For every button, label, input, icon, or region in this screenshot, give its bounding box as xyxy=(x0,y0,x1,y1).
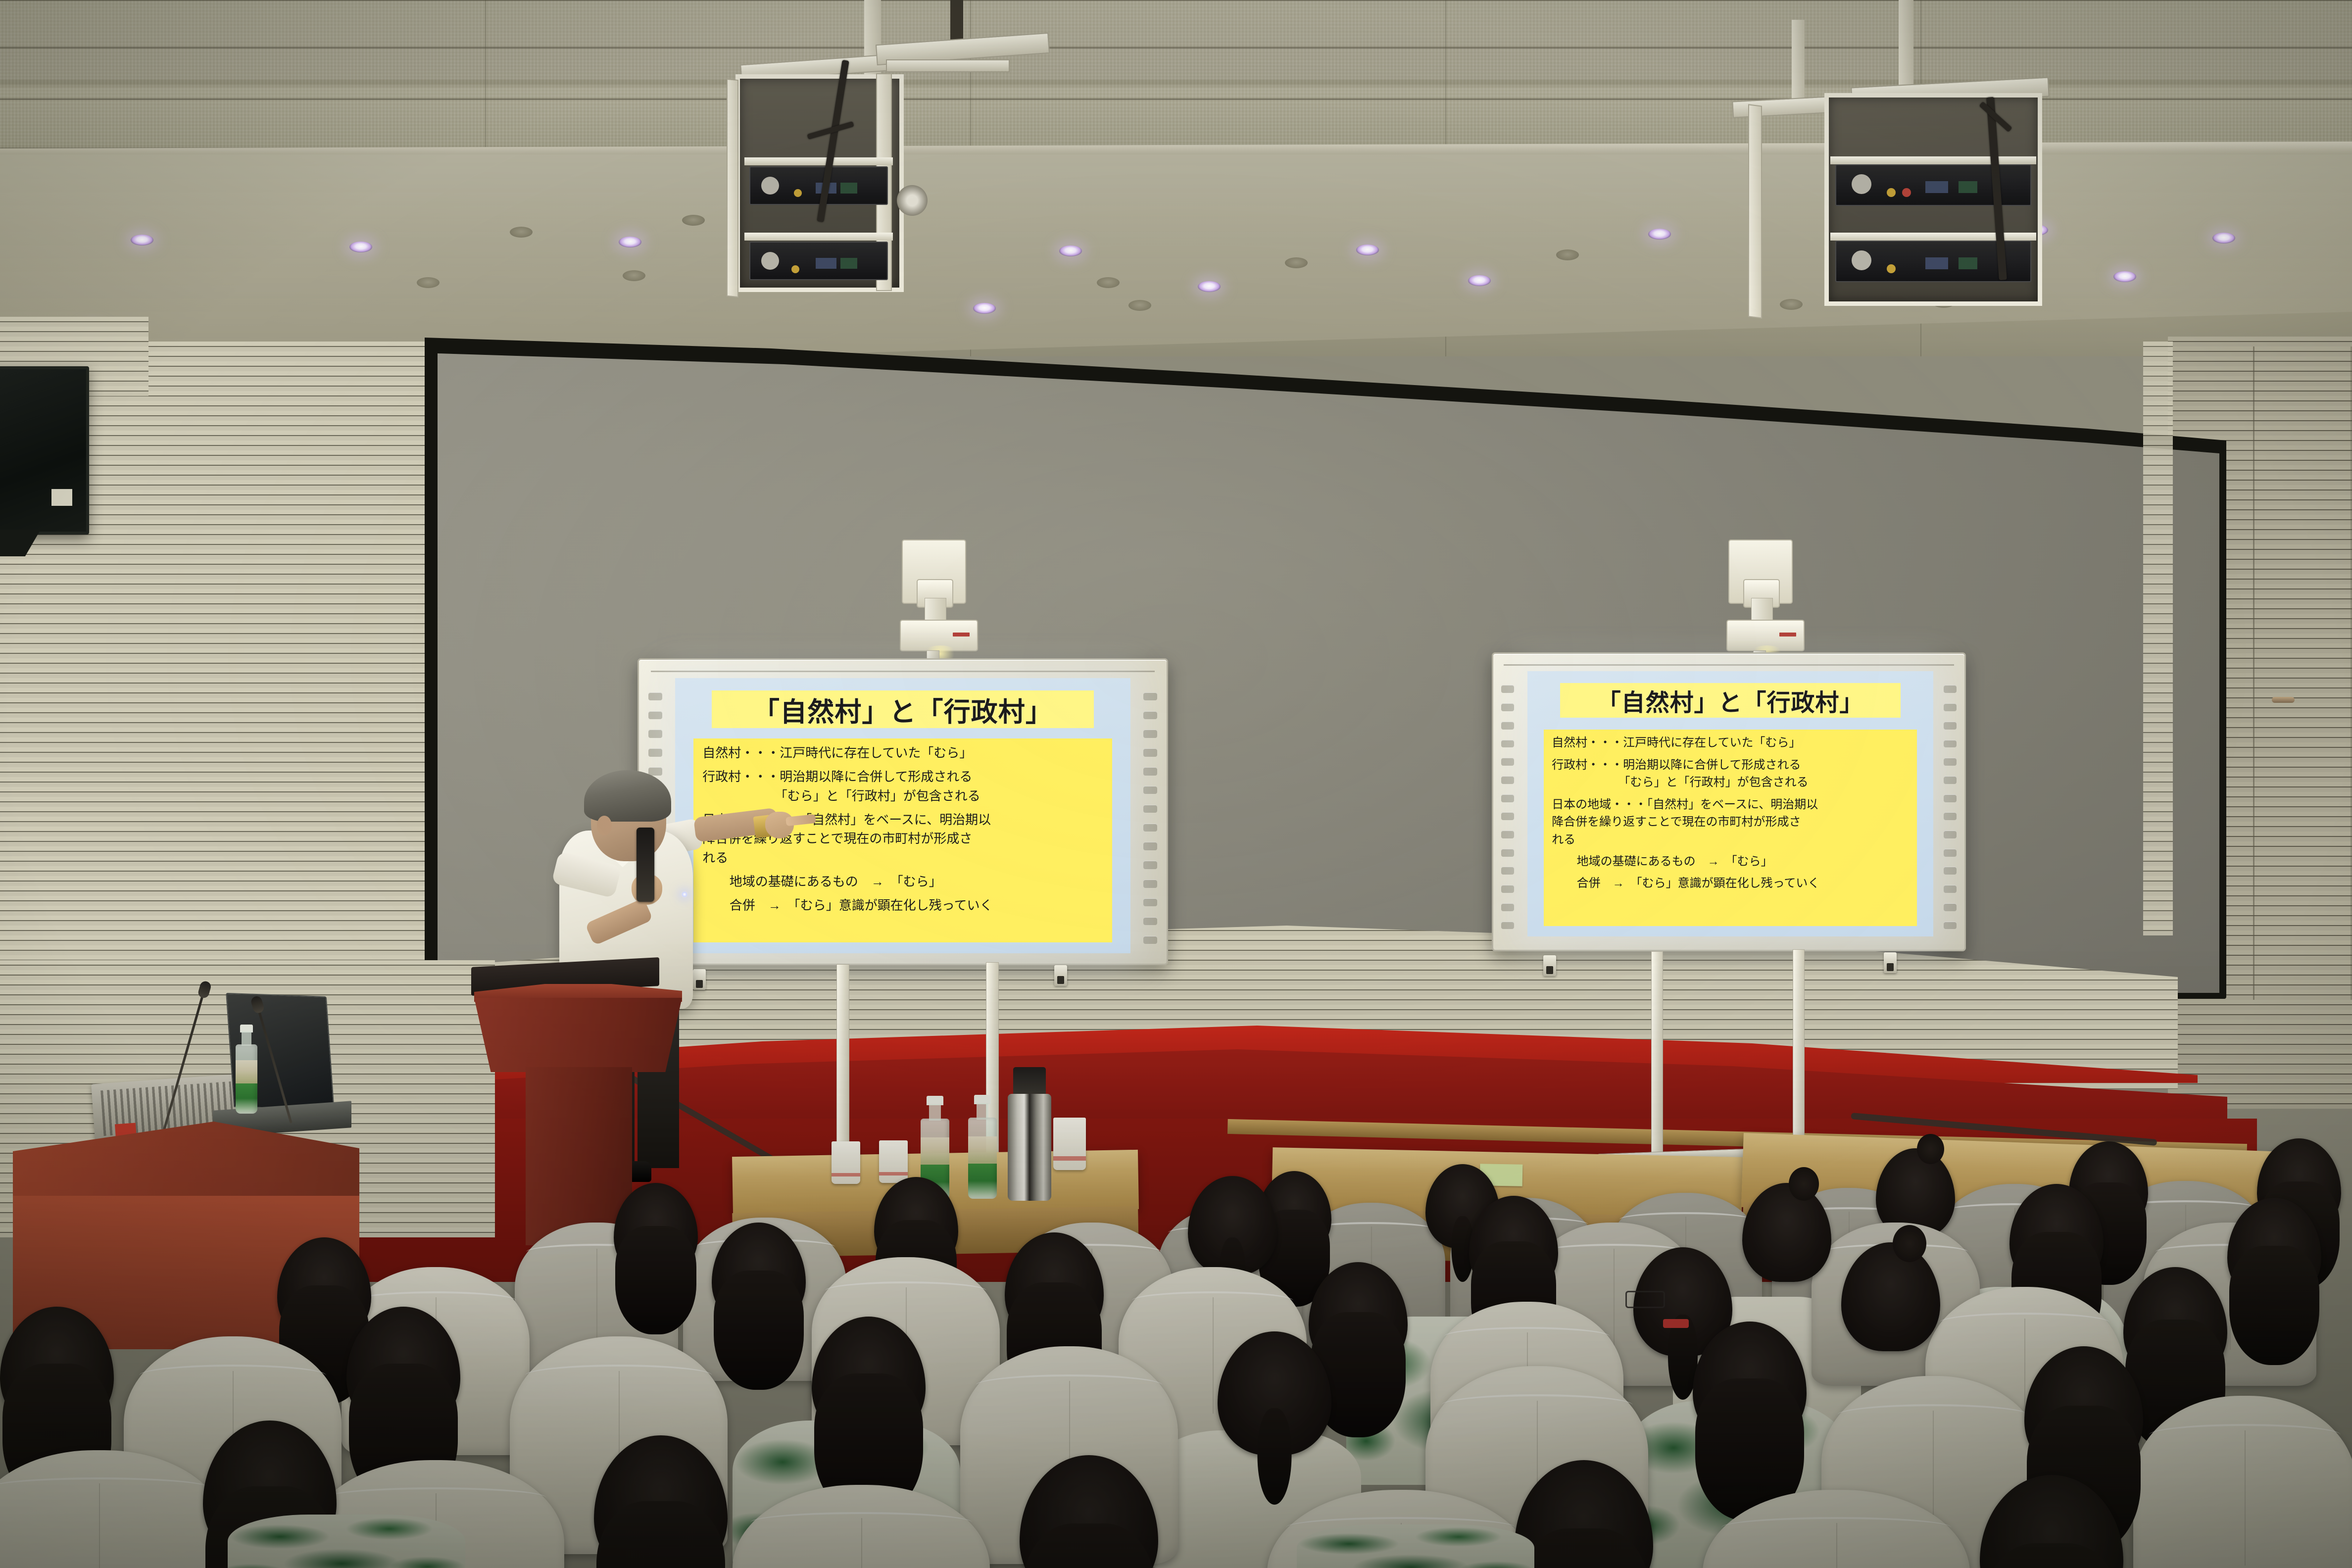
audience-head xyxy=(1841,1242,1940,1351)
whiteboard-clip xyxy=(1054,965,1067,986)
paper-cup xyxy=(1053,1118,1086,1170)
ceiling-downlight xyxy=(1556,249,1579,260)
audience-head xyxy=(1980,1475,2123,1568)
whiteboard-icon-page[interactable] xyxy=(1944,758,1957,766)
monitor-label xyxy=(51,489,72,506)
audience-head xyxy=(0,1307,114,1430)
audience-head xyxy=(1188,1176,1277,1275)
projected-slide-right: 「自然村」と「行政村」 自然村・・・江戸時代に存在していた「むら」 行政村・・・… xyxy=(1527,671,1933,936)
ceiling-downlight xyxy=(682,215,705,226)
slide-line: 自然村・・・江戸時代に存在していた「むら」 xyxy=(1552,735,1909,750)
whiteboard-icon-keyboard[interactable] xyxy=(1501,849,1514,857)
audience-seat xyxy=(733,1485,990,1568)
whiteboard-icon-keyboard[interactable] xyxy=(1143,861,1157,869)
audience-head xyxy=(346,1307,460,1430)
slide-line: れる xyxy=(1552,832,1909,847)
lectern-body xyxy=(474,998,682,1072)
audience-head xyxy=(1020,1455,1158,1568)
audience-seat xyxy=(1703,1490,1970,1568)
audience-head xyxy=(2024,1346,2143,1475)
slide-title: 「自然村」と「行政村」 xyxy=(712,690,1094,728)
ceiling-downlight xyxy=(1059,245,1082,256)
audience-seat xyxy=(0,1450,228,1568)
whiteboard-icon-pen[interactable] xyxy=(648,692,662,700)
whiteboard-icon-select[interactable] xyxy=(1501,722,1514,730)
ceiling-downlight xyxy=(1356,245,1379,255)
whiteboard-icon-shape[interactable] xyxy=(648,748,662,756)
audience-head xyxy=(812,1317,926,1440)
water-bottle xyxy=(235,1025,258,1114)
whiteboard-icon-help[interactable] xyxy=(1944,903,1957,911)
whiteboard-stand-leg xyxy=(1651,951,1663,1159)
whiteboard-icon-redo[interactable] xyxy=(1501,794,1514,802)
whiteboard-icon-power[interactable] xyxy=(1944,922,1957,930)
audience-head xyxy=(2009,1184,2104,1288)
whiteboard-icon-zoom[interactable] xyxy=(1143,880,1157,887)
ceiling-projector-rig-left xyxy=(713,0,1049,327)
right-interactive-whiteboard[interactable]: 「自然村」と「行政村」 自然村・・・江戸時代に存在していた「むら」 行政村・・・… xyxy=(1492,652,1966,951)
ceiling-downlight xyxy=(1198,281,1221,292)
whiteboard-pen-tray-line xyxy=(1504,664,1954,666)
audience-head xyxy=(712,1223,806,1326)
wall-mounted-monitor xyxy=(0,366,89,535)
whiteboard-icon-pen[interactable] xyxy=(1143,692,1157,700)
lecture-hall-photo: 「自然村」と「行政村」 自然村・・・江戸時代に存在していた「むら」 行政村・・・… xyxy=(0,0,2352,1568)
whiteboard-icon-select[interactable] xyxy=(1143,730,1157,737)
audience-head xyxy=(594,1435,728,1568)
presenter-hair xyxy=(584,770,671,822)
slide-line: 自然村・・・江戸時代に存在していた「むら」 xyxy=(702,745,1103,762)
audience-head xyxy=(1005,1232,1104,1341)
audience-head xyxy=(1515,1460,1653,1568)
whiteboard-icon-help[interactable] xyxy=(1143,917,1157,925)
audience-head xyxy=(1693,1322,1807,1445)
ceiling-downlight xyxy=(1285,257,1308,268)
whiteboard-icon-power[interactable] xyxy=(1143,936,1157,944)
ceiling-projector-rig-right xyxy=(1703,0,2049,317)
water-bottle xyxy=(967,1095,998,1199)
ceiling-downlight xyxy=(1468,275,1491,286)
whiteboard-icon-settings[interactable] xyxy=(1501,885,1514,893)
whiteboard-icon-print[interactable] xyxy=(1944,831,1957,838)
ceiling-downlight xyxy=(1128,300,1151,311)
ceiling-downlight xyxy=(1648,229,1671,240)
whiteboard-icon-pen[interactable] xyxy=(1501,685,1514,693)
audience-head xyxy=(614,1183,698,1277)
whiteboard-icon-eraser[interactable] xyxy=(648,711,662,719)
whiteboard-icon-eraser[interactable] xyxy=(1501,703,1514,711)
whiteboard-pen-tray-line xyxy=(651,671,1155,672)
slide-line: 降合併を繰り返すことで現在の市町村が形成さ xyxy=(1552,814,1909,830)
audience-person-torso xyxy=(228,1515,465,1568)
whiteboard-icon-save[interactable] xyxy=(1501,812,1514,820)
slide-line: 行政村・・・明治期以降に合併して形成される xyxy=(1552,757,1909,773)
slide-body: 自然村・・・江戸時代に存在していた「むら」 行政村・・・明治期以降に合併して形成… xyxy=(1544,730,1917,926)
ceiling-downlight xyxy=(1097,277,1120,288)
audience-seat xyxy=(2133,1396,2352,1568)
slide-line: 合併 → 「むら」意識が顕在化し残っていく xyxy=(1552,876,1909,891)
ceiling-downlight xyxy=(2113,271,2136,282)
thermos-flask xyxy=(1008,1067,1051,1201)
whiteboard-icon-print[interactable] xyxy=(1143,842,1157,850)
handheld-microphone[interactable] xyxy=(637,828,654,902)
whiteboard-icon-print[interactable] xyxy=(1501,831,1514,838)
whiteboard-icon-page[interactable] xyxy=(1501,758,1514,766)
whiteboard-icon-undo[interactable] xyxy=(1143,786,1157,794)
audience-person-torso xyxy=(1297,1524,1534,1568)
whiteboard-clip xyxy=(1543,955,1556,976)
whiteboard-icon-page[interactable] xyxy=(1143,767,1157,775)
audience-head xyxy=(1469,1196,1558,1295)
ceiling-downlight xyxy=(2212,233,2235,244)
paper-cup xyxy=(832,1141,860,1184)
whiteboard-toolbar-left[interactable] xyxy=(1498,680,1518,934)
laser-pointer-dot xyxy=(681,891,688,898)
wall-upper-right xyxy=(2143,342,2173,935)
audience-head xyxy=(1218,1331,1331,1455)
presenter-ear xyxy=(597,816,612,835)
whiteboard-icon-shape[interactable] xyxy=(1501,740,1514,748)
whiteboard-icon-save[interactable] xyxy=(1944,812,1957,820)
whiteboard-icon-help[interactable] xyxy=(1501,903,1514,911)
ceiling-downlight xyxy=(510,227,533,238)
whiteboard-icon-undo[interactable] xyxy=(1944,776,1957,784)
ceiling-downlight xyxy=(349,242,372,252)
whiteboard-icon-save[interactable] xyxy=(1143,824,1157,832)
whiteboard-toolbar-right[interactable] xyxy=(1139,687,1161,949)
whiteboard-icon-settings[interactable] xyxy=(1944,885,1957,893)
whiteboard-icon-settings[interactable] xyxy=(1143,898,1157,906)
door[interactable] xyxy=(2253,346,2352,1000)
whiteboard-icon-redo[interactable] xyxy=(1944,794,1957,802)
ceiling-downlight xyxy=(417,277,440,288)
whiteboard-icon-redo[interactable] xyxy=(1143,805,1157,813)
audience-head xyxy=(2227,1198,2321,1302)
whiteboard-icon-eraser[interactable] xyxy=(1944,703,1957,711)
whiteboard-toolbar-right[interactable] xyxy=(1940,680,1960,934)
slide-line: 地域の基礎にあるもの → 「むら」 xyxy=(1552,854,1909,869)
ceiling-downlight xyxy=(623,270,645,281)
ceiling-downlight xyxy=(619,237,641,247)
whiteboard-icon-shape[interactable] xyxy=(1944,740,1957,748)
whiteboard-icon-zoom[interactable] xyxy=(1501,867,1514,875)
ceiling-downlight xyxy=(131,235,153,245)
whiteboard-icon-eraser[interactable] xyxy=(1143,711,1157,719)
slide-title: 「自然村」と「行政村」 xyxy=(1560,683,1901,718)
whiteboard-icon-undo[interactable] xyxy=(1501,776,1514,784)
whiteboard-clip xyxy=(1884,952,1897,973)
slide-line: 「むら」と「行政村」が包含される xyxy=(1552,775,1909,790)
whiteboard-icon-power[interactable] xyxy=(1501,922,1514,930)
slide-line: 日本の地域・・・「自然村」をベースに、明治期以 xyxy=(1552,797,1909,812)
whiteboard-icon-pen[interactable] xyxy=(1944,685,1957,693)
whiteboard-stand-leg xyxy=(1793,949,1805,1157)
whiteboard-icon-keyboard[interactable] xyxy=(1944,849,1957,857)
audience-head xyxy=(1742,1183,1831,1282)
whiteboard-icon-zoom[interactable] xyxy=(1944,867,1957,875)
whiteboard-icon-select[interactable] xyxy=(648,730,662,737)
door-handle[interactable] xyxy=(2272,697,2295,703)
whiteboard-icon-shape[interactable] xyxy=(1143,748,1157,756)
whiteboard-icon-select[interactable] xyxy=(1944,722,1957,730)
